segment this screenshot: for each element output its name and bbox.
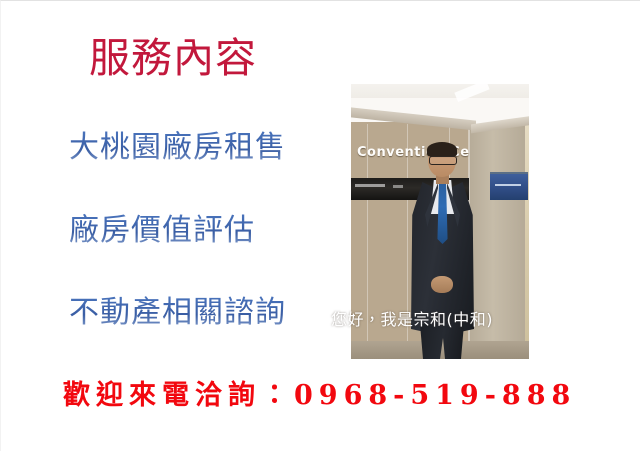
photo-right-edge-strip xyxy=(525,122,529,359)
photo-dark-band-highlight xyxy=(355,184,385,187)
photo-person-hands xyxy=(431,276,453,293)
photo-caption: 您好，我是宗和(中和) xyxy=(331,306,493,330)
glasses-icon xyxy=(429,156,457,165)
contact-phone-line: 歡迎來電洽詢：0968-519-888 xyxy=(63,373,576,412)
photo-blue-plaque xyxy=(490,172,528,200)
photo-person-hair xyxy=(427,142,457,157)
page-title: 服務內容 xyxy=(89,35,257,82)
slide-canvas: 服務內容 大桃園廠房租售 廠房價值評估 不動產相關諮詢 歡迎來電洽詢：0968-… xyxy=(0,0,640,451)
photo-blue-plaque-line xyxy=(495,184,521,186)
service-item-2: 廠房價值評估 xyxy=(69,213,255,249)
service-item-1: 大桃園廠房租售 xyxy=(69,130,286,166)
photo-dark-band-highlight xyxy=(393,185,403,188)
service-item-3: 不動產相關諮詢 xyxy=(69,295,286,331)
